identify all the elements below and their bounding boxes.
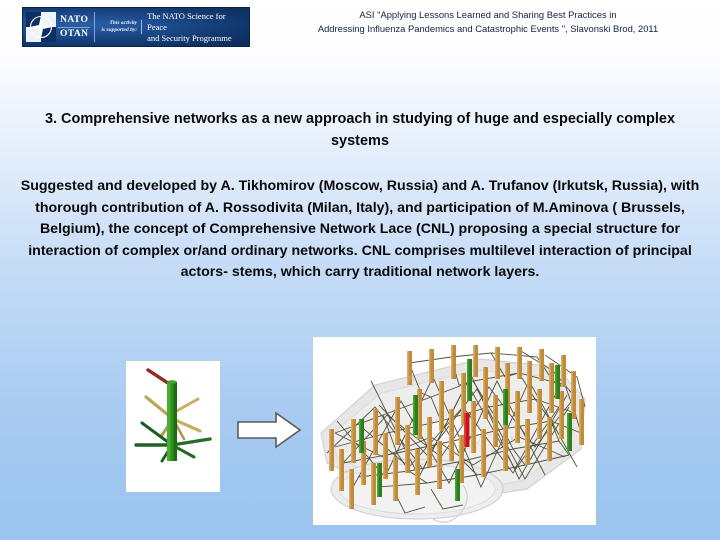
support-line-2: is supported by: <box>101 27 137 34</box>
nato-label: NATO <box>58 14 90 28</box>
conference-header: ASI "Applying Lessons Learned and Sharin… <box>262 8 714 36</box>
nato-compass-star-icon <box>26 12 56 42</box>
conference-line-2: Addressing Influenza Pandemics and Catas… <box>262 22 714 36</box>
comprehensive-network-lace-figure: S L N A <box>313 337 596 525</box>
support-line-1: This activity <box>101 20 137 27</box>
sps-programme-name: The NATO Science for Peace and Security … <box>142 11 246 44</box>
single-stem-figure <box>126 361 220 492</box>
otan-label: OTAN <box>58 28 90 41</box>
svg-text:L: L <box>511 436 515 443</box>
nato-otan-wordmark: NATO OTAN <box>58 12 95 42</box>
programme-line-1: The NATO Science for Peace <box>147 11 246 33</box>
programme-line-2: and Security Programme <box>147 33 246 44</box>
highlighted-red-stem <box>464 413 470 447</box>
right-arrow-icon <box>234 410 306 450</box>
slide-canvas: NATO OTAN This activity is supported by:… <box>0 0 720 540</box>
activity-supported-by-note: This activity is supported by: <box>95 20 142 34</box>
slide-title: 3. Comprehensive networks as a new appro… <box>40 108 680 152</box>
slide-body-text: Suggested and developed by A. Tikhomirov… <box>14 176 706 284</box>
comprehensive-network-lace-diagram: S L N A <box>313 337 596 525</box>
svg-text:A: A <box>439 464 444 471</box>
svg-text:N: N <box>409 376 414 383</box>
single-stem-diagram <box>126 361 220 492</box>
transform-arrow <box>234 410 306 450</box>
svg-text:S: S <box>449 432 454 439</box>
nato-sps-logo-banner: NATO OTAN This activity is supported by:… <box>22 7 250 47</box>
conference-line-1: ASI "Applying Lessons Learned and Sharin… <box>262 8 714 22</box>
